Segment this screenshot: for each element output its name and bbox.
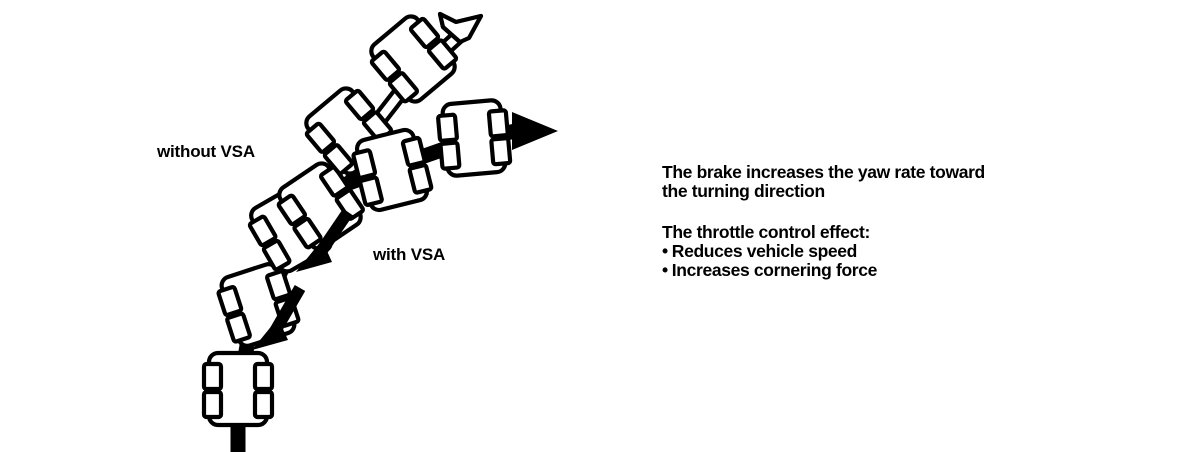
label-without-vsa: without VSA — [157, 142, 255, 162]
throttle-bullet-label: Reduces vehicle speed — [672, 241, 857, 261]
label-with-vsa: with VSA — [373, 245, 445, 265]
annotations-panel: The brake increases the yaw rate toward … — [662, 163, 1092, 280]
throttle-bullet-item: •Reduces vehicle speed — [662, 242, 1092, 261]
annotation-block-throttle: The throttle control effect: •Reduces ve… — [662, 223, 1092, 280]
throttle-bullet-item: •Increases cornering force — [662, 261, 1092, 280]
bullet-icon: • — [662, 260, 668, 280]
brake-text-line-2: the turning direction — [662, 182, 1092, 201]
throttle-bullet-label: Increases cornering force — [672, 260, 877, 280]
vehicle-icon — [204, 353, 272, 425]
vehicle-icon — [350, 127, 433, 213]
throttle-heading: The throttle control effect: — [662, 223, 1092, 242]
diagram-canvas: without VSA with VSA The brake increases… — [0, 0, 1184, 452]
brake-text-line-1: The brake increases the yaw rate toward — [662, 163, 1092, 182]
annotation-block-brake: The brake increases the yaw rate toward … — [662, 163, 1092, 201]
bullet-icon: • — [662, 241, 668, 261]
vehicle-icon — [437, 99, 511, 177]
